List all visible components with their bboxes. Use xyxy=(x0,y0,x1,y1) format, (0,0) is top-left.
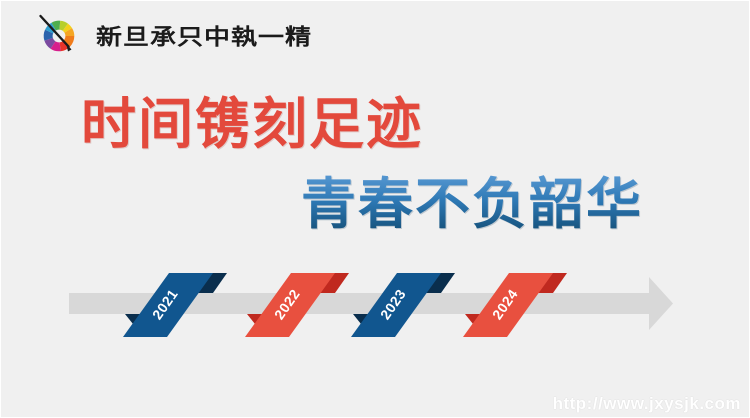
timeline-graphic: 2021 2022 2023 2024 xyxy=(1,263,750,363)
brand-logo: 新旦承只中執一精 xyxy=(35,11,312,59)
headline-secondary: 青春不负韶华 xyxy=(301,159,643,239)
color-wheel-palette-icon xyxy=(35,11,83,59)
slide-canvas: 新旦承只中執一精 时间镌刻足迹 青春不负韶华 2021 xyxy=(0,0,750,418)
headline-primary: 时间镌刻足迹 xyxy=(81,79,423,159)
site-watermark: http://www.jxysjk.com xyxy=(553,394,741,414)
brand-name: 新旦承只中執一精 xyxy=(96,19,312,51)
